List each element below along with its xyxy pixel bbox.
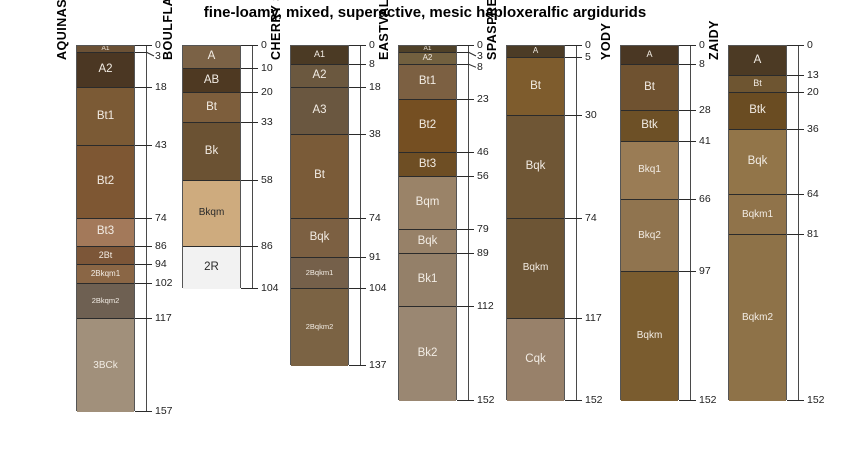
depth-tick <box>135 87 146 88</box>
horizon-label: 2R <box>204 262 219 274</box>
depth-tick-stub <box>468 176 474 177</box>
soil-horizon: Bqkm2 <box>729 235 786 401</box>
depth-tick-label: 30 <box>585 110 597 121</box>
depth-tick-stub <box>690 110 696 111</box>
depth-tick <box>241 246 252 247</box>
depth-tick-label: 3 <box>155 51 161 62</box>
depth-tick <box>457 176 468 177</box>
depth-tick <box>349 134 360 135</box>
depth-tick-stub <box>146 145 152 146</box>
depth-tick-label: 137 <box>369 360 387 371</box>
soil-horizon: Bqkm <box>507 219 564 319</box>
profile-name-label: CHERRY SPRING <box>269 0 283 60</box>
depth-tick-label: 152 <box>585 395 603 406</box>
depth-tick-label: 36 <box>807 124 819 135</box>
horizon-label: Bt <box>206 102 217 114</box>
depth-tick-stub <box>798 75 804 76</box>
depth-tick <box>787 92 798 93</box>
depth-tick <box>349 288 360 289</box>
depth-tick-stub <box>690 45 696 46</box>
horizon-label: Bkq2 <box>638 231 661 241</box>
depth-tick <box>135 145 146 146</box>
depth-tick-label: 38 <box>369 129 381 140</box>
depth-tick-label: 66 <box>699 194 711 205</box>
depth-tick-label: 8 <box>699 59 705 70</box>
depth-tick-stub <box>576 45 582 46</box>
soil-horizon: Bt <box>507 58 564 116</box>
horizon-label: Bt <box>753 79 762 88</box>
soil-horizon: A1 <box>77 46 134 53</box>
depth-tick <box>457 253 468 254</box>
chart-title: fine-loamy, mixed, superactive, mesic ha… <box>0 4 850 21</box>
depth-tick-stub <box>576 57 582 58</box>
horizon-label: Bqkm <box>637 331 663 341</box>
depth-tick-label: 104 <box>261 283 279 294</box>
depth-tick <box>679 199 690 200</box>
depth-tick <box>135 283 146 284</box>
depth-tick <box>135 411 146 412</box>
soil-horizon: A <box>621 46 678 65</box>
depth-tick <box>457 99 468 100</box>
horizon-label: A <box>533 47 538 55</box>
depth-tick-stub <box>252 45 258 46</box>
depth-tick-label: 112 <box>477 301 494 312</box>
profile-name-label: SPASPREY <box>485 0 499 60</box>
soil-horizon: Bqm <box>399 177 456 231</box>
depth-tick-stub <box>576 218 582 219</box>
horizon-label: 2Bkqm1 <box>91 270 120 278</box>
horizon-label: A <box>646 50 652 59</box>
depth-tick-label: 0 <box>369 40 375 51</box>
depth-tick-label: 5 <box>585 52 591 63</box>
depth-tick-stub <box>468 400 474 401</box>
soil-horizon: Bqk <box>507 116 564 219</box>
soil-horizon: 2Bqkm1 <box>291 258 348 288</box>
depth-tick <box>679 45 690 46</box>
depth-tick-label: 28 <box>699 105 711 116</box>
depth-tick-label: 152 <box>807 395 825 406</box>
soil-horizon: Btk <box>621 111 678 141</box>
depth-tick-label: 18 <box>369 82 381 93</box>
depth-tick-label: 104 <box>369 283 387 294</box>
horizon-label: A <box>208 51 216 63</box>
horizon-label: A3 <box>312 105 326 117</box>
depth-tick-stub <box>468 152 474 153</box>
depth-tick <box>679 64 690 65</box>
horizon-label: Bqk <box>418 236 438 248</box>
soil-horizon: AB <box>183 69 240 92</box>
soil-horizon: Bkq1 <box>621 142 678 200</box>
depth-tick-label: 117 <box>585 313 602 324</box>
depth-tick-label: 13 <box>807 70 819 81</box>
depth-tick-stub <box>798 92 804 93</box>
soil-horizon: Bkq2 <box>621 200 678 272</box>
depth-axis <box>360 45 361 365</box>
soil-horizon: 3BCk <box>77 319 134 412</box>
soil-horizon: Cqk <box>507 319 564 401</box>
depth-tick-label: 91 <box>369 252 381 263</box>
soil-horizon: A1 <box>291 46 348 65</box>
depth-tick <box>349 257 360 258</box>
soil-horizon: Bqkm <box>621 272 678 400</box>
depth-tick-stub <box>252 92 258 93</box>
depth-tick-label: 86 <box>155 241 167 252</box>
horizon-label: Bqkm <box>523 263 549 273</box>
depth-tick-stub <box>360 365 366 366</box>
depth-tick-stub <box>576 400 582 401</box>
depth-tick-stub <box>252 68 258 69</box>
depth-tick-stub <box>798 194 804 195</box>
depth-tick <box>349 87 360 88</box>
depth-tick-label: 0 <box>261 40 267 51</box>
horizon-label: Bqk <box>748 156 768 168</box>
depth-tick-stub <box>146 45 152 46</box>
depth-tick <box>787 194 798 195</box>
depth-tick-label: 8 <box>369 59 375 70</box>
soil-horizon: Bqkm1 <box>729 195 786 235</box>
depth-tick-stub <box>468 99 474 100</box>
depth-tick-stub <box>360 87 366 88</box>
horizon-label: Bqk <box>526 161 546 173</box>
soil-horizon: Bqk <box>729 130 786 195</box>
depth-tick-stub <box>360 218 366 219</box>
soil-horizon: Bt1 <box>77 88 134 146</box>
soil-horizon: Bk2 <box>399 307 456 400</box>
depth-tick <box>349 365 360 366</box>
depth-tick-label: 0 <box>699 40 705 51</box>
depth-tick-stub <box>576 115 582 116</box>
soil-horizon: A <box>507 46 564 58</box>
depth-tick-label: 0 <box>155 40 161 51</box>
horizon-label: Bqkm1 <box>742 210 773 220</box>
soil-horizon: 2Bkqm2 <box>77 284 134 319</box>
depth-tick-stub <box>146 318 152 319</box>
profile-column: A1A2Bt1Bt2Bt3BqmBqkBk1Bk2 <box>398 45 457 400</box>
horizon-label: Bt3 <box>97 226 114 238</box>
soil-horizon: 2Bt <box>77 247 134 266</box>
depth-tick <box>241 68 252 69</box>
depth-tick-stub <box>146 218 152 219</box>
profile-column: AABBtBkBkqm2R <box>182 45 241 288</box>
depth-tick <box>349 218 360 219</box>
horizon-label: Bkq1 <box>638 165 661 175</box>
depth-tick-label: 18 <box>155 82 167 93</box>
soil-horizon: Bt <box>183 93 240 123</box>
depth-tick-stub <box>252 180 258 181</box>
depth-tick <box>565 318 576 319</box>
soil-horizon: Bt1 <box>399 65 456 100</box>
horizon-label: Bt <box>530 81 541 93</box>
horizon-label: Bt3 <box>419 159 436 171</box>
depth-tick <box>241 92 252 93</box>
depth-tick-stub <box>468 45 474 46</box>
horizon-label: Btk <box>641 120 658 132</box>
depth-tick <box>135 218 146 219</box>
soil-horizon: A2 <box>77 53 134 88</box>
depth-tick-label: 64 <box>807 189 819 200</box>
horizon-label: 2Bqkm1 <box>306 269 334 277</box>
depth-tick <box>457 52 468 53</box>
horizon-label: Bt2 <box>97 176 114 188</box>
soil-horizon: Bt2 <box>399 100 456 154</box>
depth-tick-label: 94 <box>155 259 167 270</box>
depth-tick-label: 56 <box>477 171 489 182</box>
depth-tick <box>787 234 798 235</box>
depth-tick-stub <box>146 87 152 88</box>
depth-tick-stub <box>360 288 366 289</box>
soil-horizon: Bqk <box>291 219 348 259</box>
depth-tick-stub <box>468 306 474 307</box>
profile-column: ABtBqkBqkmCqk <box>506 45 565 400</box>
depth-tick <box>241 180 252 181</box>
depth-tick-stub <box>360 257 366 258</box>
depth-tick <box>565 57 576 58</box>
horizon-label: Bt1 <box>97 111 114 123</box>
depth-axis <box>252 45 253 288</box>
depth-tick-stub <box>252 246 258 247</box>
depth-tick-stub <box>252 122 258 123</box>
horizon-label: A1 <box>314 50 325 59</box>
horizon-label: Bqkm2 <box>742 313 773 323</box>
depth-tick <box>679 141 690 142</box>
depth-tick-stub <box>798 129 804 130</box>
soil-horizon: Bt3 <box>77 219 134 247</box>
depth-tick-label: 0 <box>807 40 813 51</box>
depth-tick-label: 0 <box>477 40 483 51</box>
horizon-label: Bt <box>644 82 655 94</box>
depth-tick-label: 33 <box>261 117 273 128</box>
horizon-label: 3BCk <box>93 361 117 371</box>
depth-tick <box>457 306 468 307</box>
soil-horizon: A2 <box>399 53 456 65</box>
profile-column: A1A2Bt1Bt2Bt32Bt2Bkqm12Bkqm23BCk <box>76 45 135 411</box>
depth-tick <box>565 45 576 46</box>
depth-tick <box>787 129 798 130</box>
profile-name-label: YODY <box>599 23 613 60</box>
soil-horizon: A3 <box>291 88 348 135</box>
horizon-label: Bqk <box>310 232 330 244</box>
depth-tick-label: 97 <box>699 266 711 277</box>
depth-tick <box>787 45 798 46</box>
soil-horizon: Bkqm <box>183 181 240 246</box>
depth-tick-label: 74 <box>585 213 597 224</box>
soil-horizon: 2R <box>183 247 240 289</box>
depth-tick-label: 58 <box>261 175 273 186</box>
depth-axis <box>798 45 799 400</box>
soil-horizon: Bqk <box>399 230 456 253</box>
soil-horizon: Bt <box>729 76 786 92</box>
depth-tick <box>457 152 468 153</box>
soil-horizon: A1 <box>399 46 456 53</box>
depth-tick-label: 23 <box>477 94 489 105</box>
depth-tick <box>135 52 146 53</box>
soil-horizon: A2 <box>291 65 348 88</box>
depth-tick <box>349 64 360 65</box>
profile-name-label: ZAIDY <box>707 20 721 60</box>
depth-tick-stub <box>146 246 152 247</box>
depth-tick-label: 43 <box>155 140 167 151</box>
depth-tick-label: 3 <box>477 51 483 62</box>
depth-tick-label: 0 <box>585 40 591 51</box>
profile-column: ABtBtkBqkBqkm1Bqkm2 <box>728 45 787 400</box>
soil-horizon: Btk <box>729 93 786 130</box>
depth-tick-stub <box>360 45 366 46</box>
profile-column: A1A2A3BtBqk2Bqkm12Bqkm2 <box>290 45 349 365</box>
horizon-label: 2Bt <box>99 251 113 260</box>
profile-name-label: AQUINAS <box>55 0 69 60</box>
horizon-label: Btk <box>749 105 766 117</box>
depth-tick <box>349 45 360 46</box>
depth-tick <box>135 318 146 319</box>
horizon-label: Bqm <box>416 197 440 209</box>
depth-tick-stub <box>798 234 804 235</box>
horizon-label: Bkqm <box>199 208 225 218</box>
depth-tick <box>135 45 146 46</box>
depth-tick-stub <box>146 283 152 284</box>
depth-tick-label: 89 <box>477 248 489 259</box>
horizon-label: 2Bqkm2 <box>306 323 334 331</box>
horizon-label: Bt1 <box>419 76 436 88</box>
depth-tick-stub <box>468 253 474 254</box>
soil-horizon: Bk <box>183 123 240 181</box>
depth-tick-stub <box>252 288 258 289</box>
horizon-label: A1 <box>102 46 110 52</box>
depth-tick-label: 157 <box>155 406 173 417</box>
depth-tick <box>787 75 798 76</box>
depth-tick <box>787 400 798 401</box>
depth-tick-label: 152 <box>699 395 717 406</box>
depth-tick-stub <box>360 64 366 65</box>
depth-tick <box>679 110 690 111</box>
depth-tick-label: 152 <box>477 395 495 406</box>
soil-horizon: 2Bqkm2 <box>291 289 348 366</box>
soil-horizon: Bt3 <box>399 153 456 176</box>
depth-tick <box>241 45 252 46</box>
depth-tick-stub <box>798 400 804 401</box>
depth-tick-stub <box>146 264 152 265</box>
depth-tick <box>679 271 690 272</box>
depth-tick-label: 8 <box>477 62 483 73</box>
depth-tick-label: 102 <box>155 278 173 289</box>
horizon-label: Bk <box>205 146 218 158</box>
depth-tick-stub <box>690 64 696 65</box>
depth-tick <box>565 218 576 219</box>
depth-tick-label: 20 <box>807 87 819 98</box>
depth-tick-stub <box>576 318 582 319</box>
depth-tick-label: 117 <box>155 313 172 324</box>
depth-tick-label: 41 <box>699 136 711 147</box>
soil-horizon: A <box>729 46 786 76</box>
depth-tick-label: 10 <box>261 63 273 74</box>
depth-tick-label: 81 <box>807 229 819 240</box>
depth-tick-stub <box>690 400 696 401</box>
depth-tick-label: 79 <box>477 224 489 235</box>
depth-tick-stub <box>468 229 474 230</box>
horizon-label: Bt2 <box>419 120 436 132</box>
profile-name-label: BOULFLAT <box>161 0 175 60</box>
horizon-label: Bk2 <box>418 348 438 360</box>
profile-column: ABtBtkBkq1Bkq2Bqkm <box>620 45 679 400</box>
depth-tick-label: 86 <box>261 241 273 252</box>
horizon-label: AB <box>204 75 219 87</box>
depth-tick-label: 74 <box>369 213 381 224</box>
depth-tick-stub <box>798 45 804 46</box>
depth-tick-label: 46 <box>477 147 489 158</box>
soil-horizon: Bt <box>291 135 348 219</box>
depth-tick <box>457 229 468 230</box>
soil-horizon: Bk1 <box>399 254 456 308</box>
soil-horizon: 2Bkqm1 <box>77 265 134 284</box>
depth-tick-stub <box>690 141 696 142</box>
depth-tick <box>679 400 690 401</box>
horizon-label: 2Bkqm2 <box>92 297 120 305</box>
depth-axis <box>146 45 147 411</box>
soil-horizon: Bt2 <box>77 146 134 218</box>
horizon-label: A2 <box>312 70 326 82</box>
depth-tick <box>135 264 146 265</box>
depth-tick-stub <box>146 411 152 412</box>
depth-tick <box>457 400 468 401</box>
depth-tick <box>565 400 576 401</box>
soil-profile-chart: fine-loamy, mixed, superactive, mesic ha… <box>0 0 850 450</box>
depth-axis <box>576 45 577 400</box>
depth-tick-stub <box>690 271 696 272</box>
horizon-label: A1 <box>424 46 432 52</box>
depth-tick-label: 20 <box>261 87 273 98</box>
horizon-label: A2 <box>98 64 112 76</box>
depth-tick <box>241 288 252 289</box>
horizon-label: Bk1 <box>418 274 438 286</box>
depth-tick <box>565 115 576 116</box>
depth-tick-stub <box>360 134 366 135</box>
horizon-label: Cqk <box>525 354 545 366</box>
horizon-label: Bt <box>314 170 325 182</box>
depth-tick <box>457 45 468 46</box>
depth-tick <box>135 246 146 247</box>
depth-axis <box>690 45 691 400</box>
depth-tick <box>241 122 252 123</box>
soil-horizon: A <box>183 46 240 69</box>
horizon-label: A2 <box>423 54 433 62</box>
depth-tick-stub <box>690 199 696 200</box>
profile-name-label: EASTVAL <box>377 0 391 60</box>
horizon-label: A <box>754 55 762 67</box>
depth-tick-label: 74 <box>155 213 167 224</box>
soil-horizon: Bt <box>621 65 678 112</box>
depth-tick <box>457 64 468 65</box>
